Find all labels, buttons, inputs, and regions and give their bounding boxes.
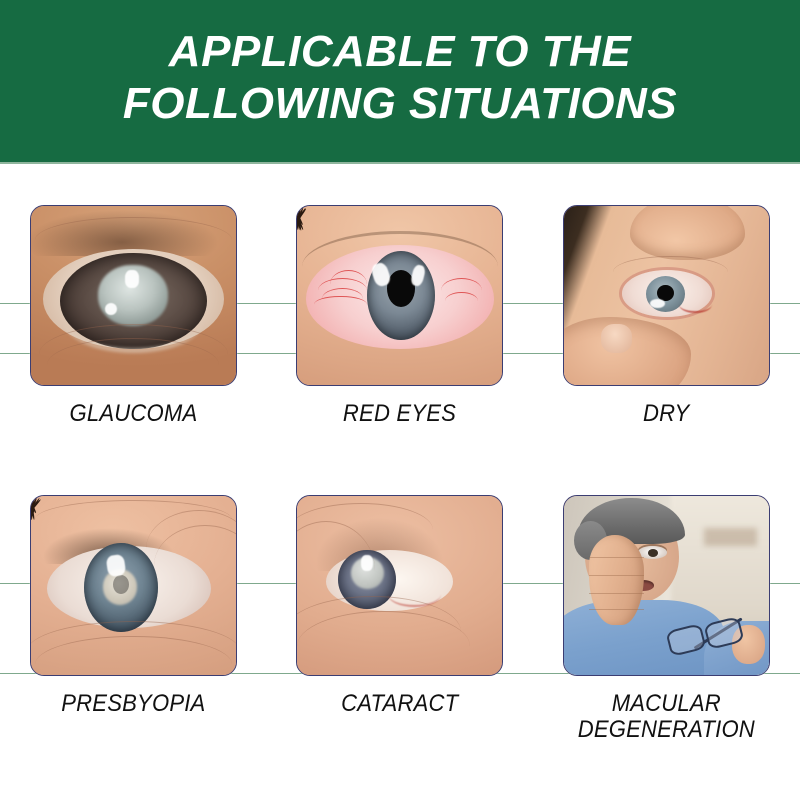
cataract-eye-image: [296, 495, 503, 676]
glaucoma-eye-image: [30, 205, 237, 386]
dry-eye-image: [563, 205, 770, 386]
condition-item-cataract: CATARACT: [277, 495, 523, 743]
header-banner: APPLICABLE TO THE FOLLOWING SITUATIONS: [0, 0, 800, 164]
macular-degeneration-image: [563, 495, 770, 676]
page-title: APPLICABLE TO THE FOLLOWING SITUATIONS: [0, 26, 800, 130]
condition-item-presbyopia: PRESBYOPIA: [10, 495, 256, 743]
condition-label: RED EYES: [343, 401, 456, 427]
condition-item-red-eyes: RED EYES: [277, 205, 523, 427]
presbyopia-eye-image: [30, 495, 237, 676]
condition-label: GLAUCOMA: [69, 401, 197, 427]
red-eyes-image: [296, 205, 503, 386]
conditions-grid: GLAUCOMA: [0, 164, 800, 800]
condition-item-macular-degeneration: MACULAR DEGENERATION: [544, 495, 790, 743]
condition-item-glaucoma: GLAUCOMA: [10, 205, 256, 427]
condition-label: CATARACT: [341, 691, 458, 717]
conditions-row-1: GLAUCOMA: [0, 205, 800, 427]
condition-label: MACULAR DEGENERATION: [578, 691, 755, 743]
condition-label: PRESBYOPIA: [61, 691, 205, 717]
condition-item-dry: DRY: [544, 205, 790, 427]
condition-label: DRY: [643, 401, 689, 427]
conditions-row-2: PRESBYOPIA CATARACT: [0, 495, 800, 743]
